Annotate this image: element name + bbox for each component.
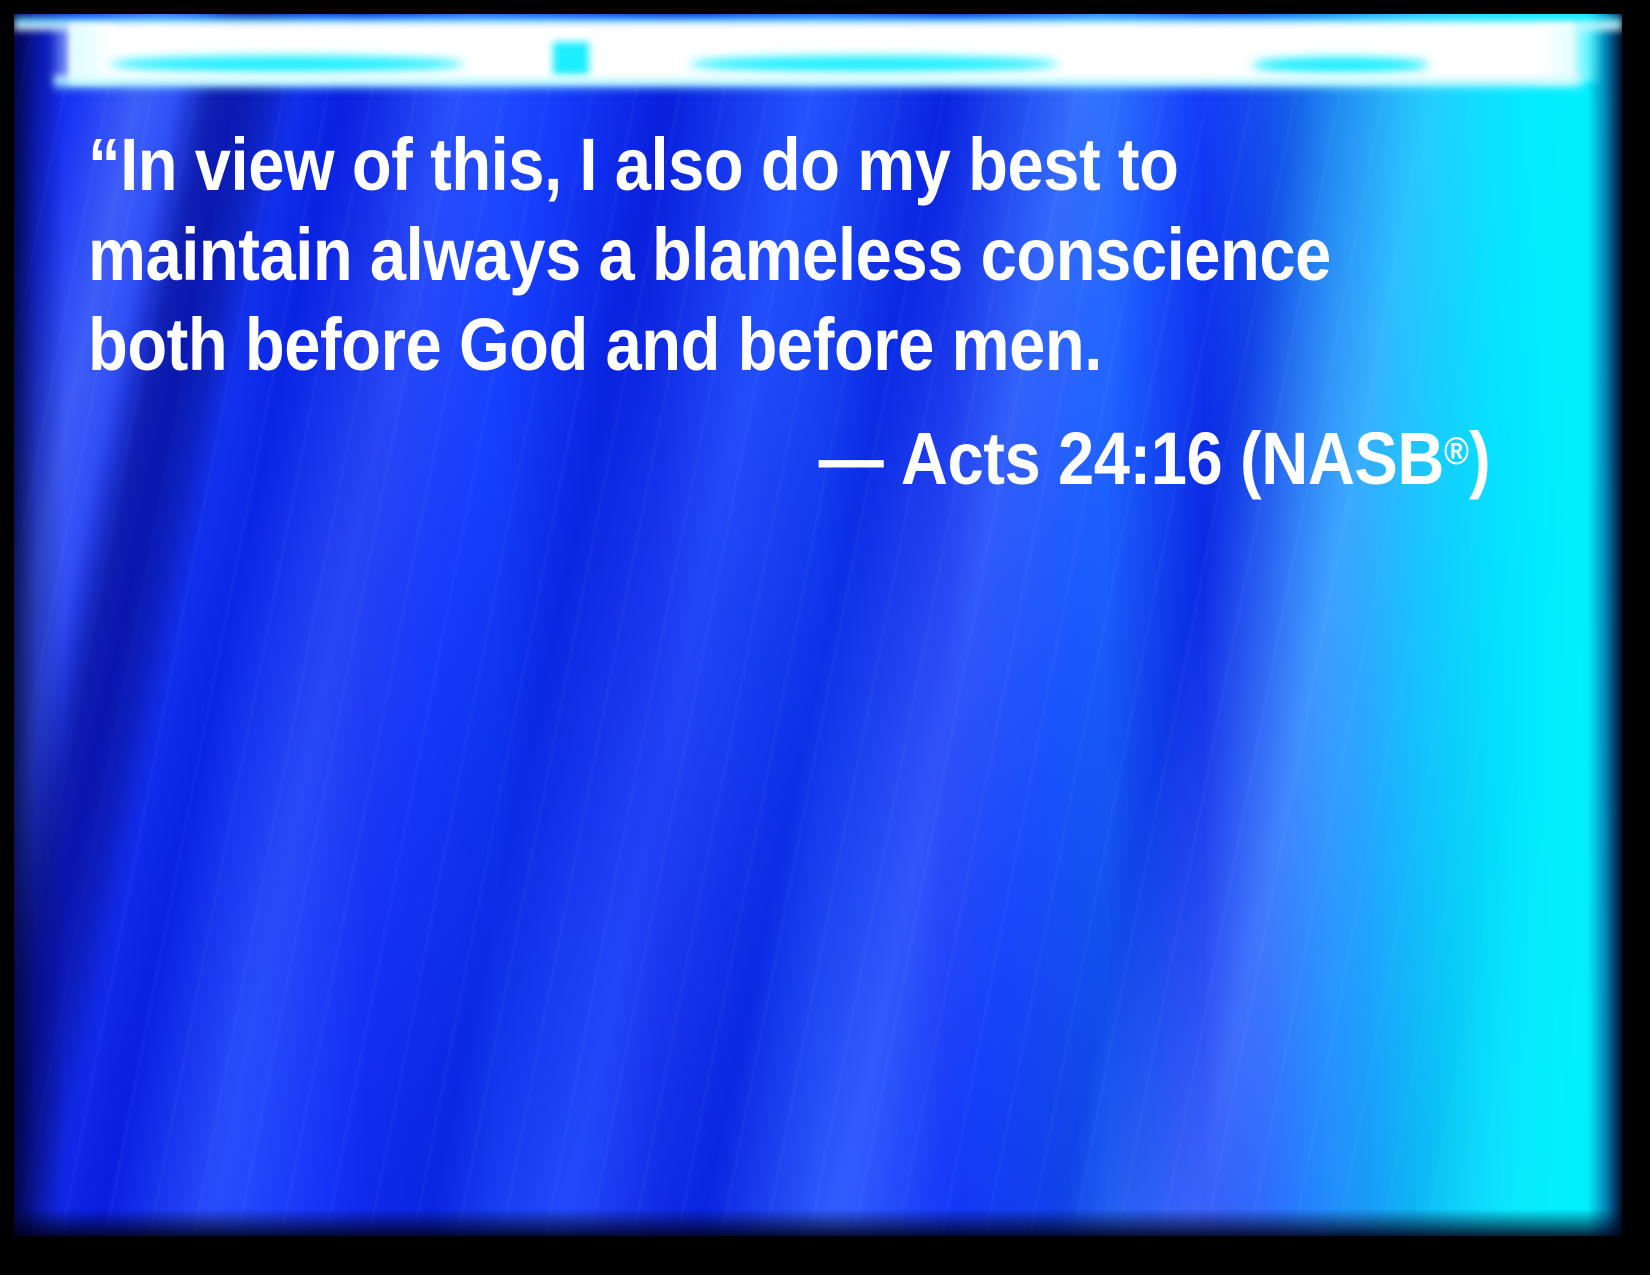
registered-trademark-icon: ® bbox=[1444, 430, 1469, 473]
verse-attribution: — Acts 24:16 (NASB®) bbox=[88, 406, 1508, 505]
top-band-cyan-wisp-left bbox=[110, 56, 464, 72]
background-left-edge-shadow bbox=[14, 14, 65, 1236]
verse-text-block: “In view of this, I also do my best to m… bbox=[88, 120, 1508, 505]
background-right-edge-shadow bbox=[1587, 14, 1622, 1236]
top-band-left-taper bbox=[49, 26, 113, 82]
verse-line-1: “In view of this, I also do my best to bbox=[88, 120, 1338, 210]
top-band-right-taper bbox=[1538, 26, 1602, 82]
attribution-chapter-verse: 24:16 bbox=[1058, 417, 1222, 500]
verse-line-3: both before God and before men. bbox=[88, 300, 1338, 390]
top-band-cyan-wisp-right bbox=[1252, 57, 1429, 73]
attribution-book: Acts bbox=[901, 417, 1040, 500]
top-highlight-band bbox=[14, 14, 1622, 96]
attribution-translation: NASB bbox=[1261, 417, 1444, 500]
verse-line-2: maintain always a blameless conscience bbox=[88, 210, 1338, 300]
top-band-cyan-notch bbox=[553, 42, 589, 76]
slide-frame: “In view of this, I also do my best to m… bbox=[0, 0, 1650, 1275]
top-band-cyan-wisp-center bbox=[689, 56, 1059, 72]
top-band-lower-glow bbox=[54, 76, 1582, 92]
slide-canvas: “In view of this, I also do my best to m… bbox=[14, 14, 1622, 1236]
attribution-open-paren: ( bbox=[1240, 417, 1261, 500]
top-band-white-core bbox=[69, 24, 1574, 84]
background-bottom-edge-shadow bbox=[14, 1209, 1622, 1236]
attribution-close-paren: ) bbox=[1469, 417, 1490, 500]
attribution-em-dash: — bbox=[818, 417, 883, 500]
